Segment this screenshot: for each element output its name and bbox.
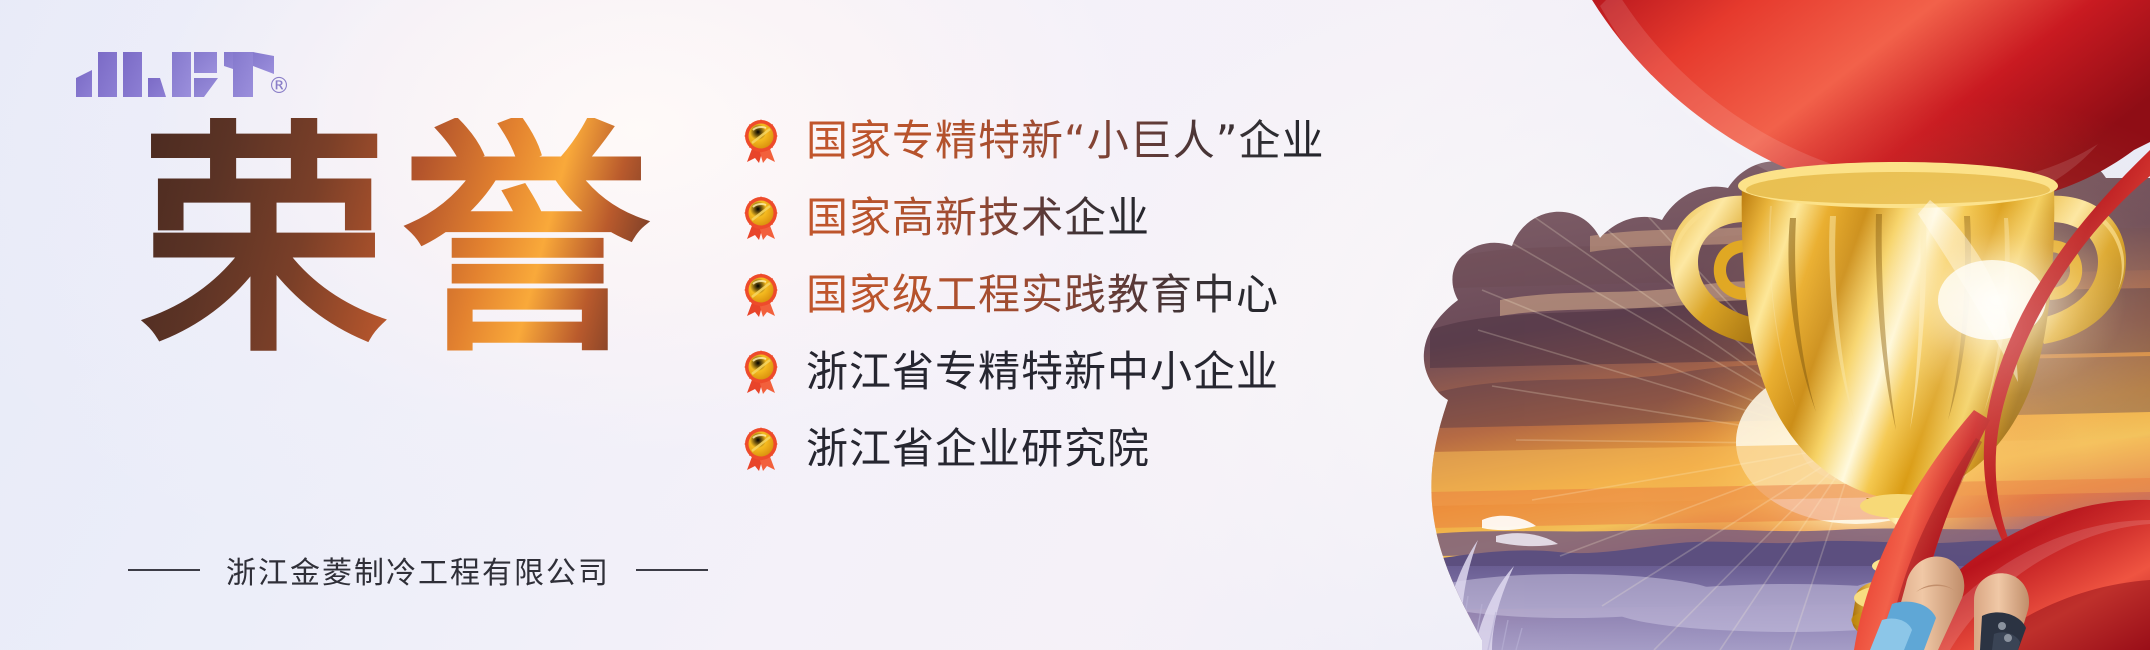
honor-label: 国家高新技术企业 xyxy=(806,196,1150,240)
honor-label: 国家专精特新“小巨人”企业 xyxy=(806,119,1325,163)
honor-label: 浙江省专精特新中小企业 xyxy=(806,350,1279,394)
medal-icon xyxy=(742,427,780,471)
honor-item: 浙江省专精特新中小企业 xyxy=(742,347,1325,397)
honor-item: 国家高新技术企业 xyxy=(742,193,1325,243)
raised-hands xyxy=(1870,556,2029,650)
company-name: 浙江金菱制冷工程有限公司 xyxy=(226,548,610,592)
ribbon-bottom-sweep xyxy=(1878,500,2150,650)
medal-icon xyxy=(742,350,780,394)
golden-trophy xyxy=(1670,162,2126,642)
medal-icon xyxy=(742,196,780,240)
honor-item: 国家专精特新“小巨人”企业 xyxy=(742,116,1325,166)
rule-right xyxy=(636,569,708,571)
page-title: 荣誉 xyxy=(140,118,664,366)
honor-list: 国家专精特新“小巨人”企业 国家高新技术企业 xyxy=(742,116,1325,474)
honor-item: 国家级工程实践教育中心 xyxy=(742,270,1325,320)
medal-icon xyxy=(742,119,780,163)
sunset-landscape xyxy=(1410,140,2150,650)
ribbon-upper-sweep xyxy=(1586,0,2150,207)
company-name-row: 浙江金菱制冷工程有限公司 xyxy=(128,548,708,592)
logo-mark-icon xyxy=(76,40,276,102)
rule-left xyxy=(128,569,200,571)
honor-label: 国家级工程实践教育中心 xyxy=(806,273,1279,317)
honor-banner: ® 荣誉 浙江金菱制冷工程有限公司 xyxy=(0,0,2150,650)
honor-label: 浙江省企业研究院 xyxy=(806,427,1150,471)
ribbon-top xyxy=(1720,0,2150,125)
ribbon-left-fall xyxy=(1854,410,1990,650)
ribbon-right-swirl xyxy=(1984,150,2150,600)
company-logo[interactable]: ® xyxy=(76,40,346,102)
honor-item: 浙江省企业研究院 xyxy=(742,424,1325,474)
medal-icon xyxy=(742,273,780,317)
registered-trademark-icon: ® xyxy=(268,76,290,98)
